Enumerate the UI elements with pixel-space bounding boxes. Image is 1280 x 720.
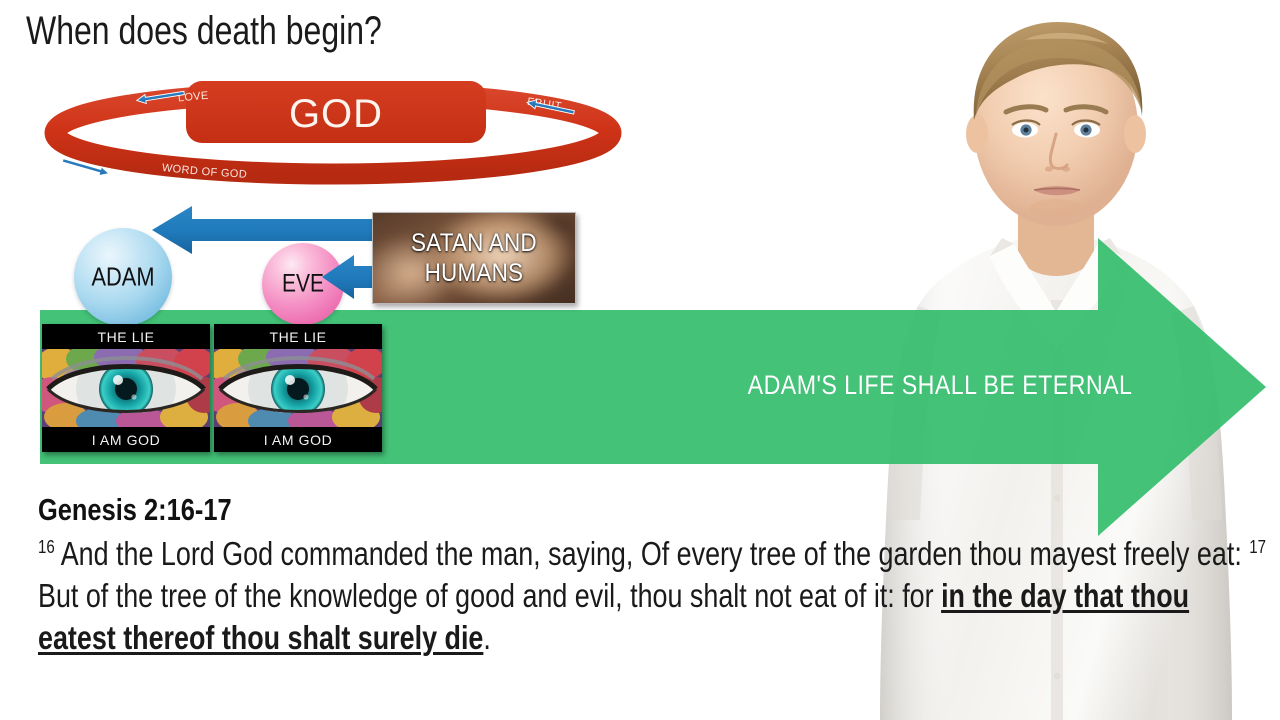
god-cycle-diagram: LOVE WORD OF GOD FRUIT GOD bbox=[28, 70, 648, 190]
verse-17-text-b: . bbox=[483, 619, 490, 656]
lie-card-bottom-caption: I AM GOD bbox=[42, 427, 210, 452]
lie-card: THE LIE bbox=[42, 324, 210, 452]
green-arrow-label: ADAM'S LIFE SHALL BE ETERNAL bbox=[734, 370, 1147, 401]
lie-card-top-caption: THE LIE bbox=[42, 324, 210, 349]
arrow-to-adam-icon bbox=[152, 205, 404, 255]
slide-root: When does death begin? bbox=[0, 0, 1280, 720]
satan-label: SATAN AND HUMANS bbox=[411, 228, 537, 289]
god-label: GOD bbox=[289, 92, 383, 136]
verse-number-16: 16 bbox=[38, 536, 55, 557]
eve-label: EVE bbox=[282, 270, 324, 299]
page-title: When does death begin? bbox=[26, 8, 382, 54]
lie-card-top-caption: THE LIE bbox=[214, 324, 382, 349]
satan-label-line2: HUMANS bbox=[411, 258, 537, 289]
eye-icon bbox=[42, 349, 210, 427]
scripture-block: Genesis 2:16-17 16 And the Lord God comm… bbox=[38, 492, 1268, 659]
adam-label: ADAM bbox=[91, 262, 154, 293]
scripture-text: 16 And the Lord God commanded the man, s… bbox=[38, 533, 1269, 660]
satan-label-line1: SATAN AND bbox=[411, 228, 537, 259]
scripture-reference: Genesis 2:16-17 bbox=[38, 492, 1047, 529]
verse-17-text-a: But of the tree of the knowledge of good… bbox=[38, 577, 941, 614]
verse-number-17: 17 bbox=[1249, 536, 1266, 557]
verse-16-text: And the Lord God commanded the man, sayi… bbox=[55, 535, 1250, 572]
eye-icon bbox=[214, 349, 382, 427]
satan-and-humans-box: SATAN AND HUMANS bbox=[372, 212, 576, 304]
lie-card: THE LIE bbox=[214, 324, 382, 452]
lie-card-bottom-caption: I AM GOD bbox=[214, 427, 382, 452]
